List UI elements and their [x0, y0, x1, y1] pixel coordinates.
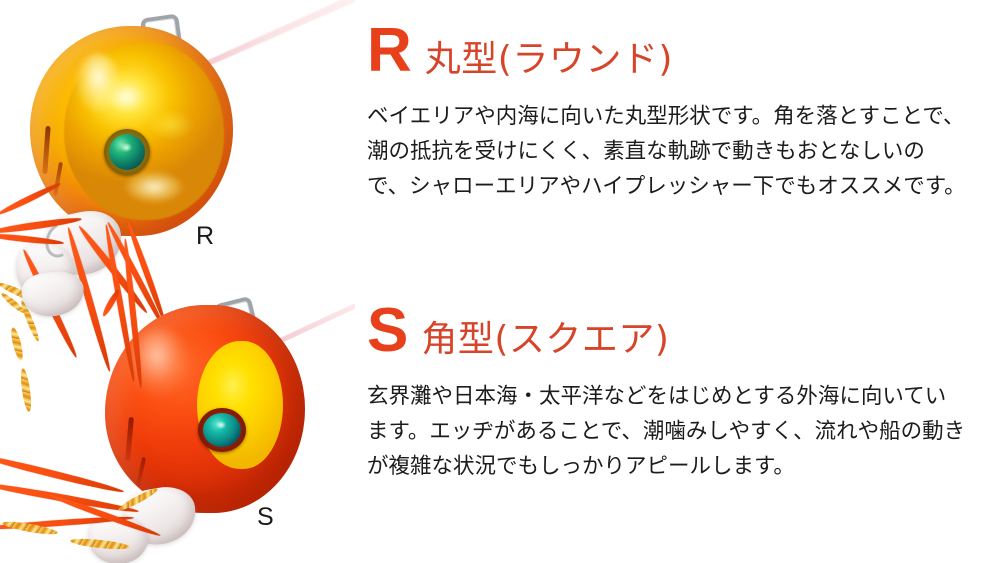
jighead-round-slot	[42, 126, 50, 174]
jighead-square-slot	[125, 417, 134, 461]
body-text-square: 玄界灘や日本海・太平洋などをはじめとする外海に向いています。エッヂがあることで、…	[367, 380, 967, 484]
foil-strand	[19, 368, 33, 413]
heading-label-round: 丸型(ラウンド)	[425, 42, 673, 78]
lure-eye-square	[198, 408, 246, 452]
leader-line-round	[195, 0, 355, 71]
product-photo-column: R S	[0, 0, 355, 563]
section-round: R 丸型(ラウンド) ベイエリアや内海に向いた丸型形状です。角を落とすことで、潮…	[367, 20, 987, 204]
photo-label-round: R	[196, 222, 215, 251]
heading-label-square: 角型(スクエア)	[421, 322, 669, 358]
lure-eye-square-highlight	[216, 421, 226, 429]
heading-square: S 角型(スクエア)	[367, 300, 987, 362]
description-column: R 丸型(ラウンド) ベイエリアや内海に向いた丸型形状です。角を落とすことで、潮…	[367, 0, 987, 563]
rubber-skirt-round-3	[20, 269, 86, 319]
lure-eye-round-lens	[109, 134, 145, 170]
section-square: S 角型(スクエア) 玄界灘や日本海・太平洋などをはじめとする外海に向いています…	[367, 300, 987, 484]
product-feature-panel: R S R 丸型(ラウンド) ベイエリアや内海に向いた丸型形状です。角を落とすこ…	[0, 0, 1000, 563]
photo-label-square: S	[257, 503, 274, 532]
jighead-square-face	[197, 341, 283, 469]
jighead-square-slot-2	[136, 457, 146, 487]
lure-eye-round-highlight	[121, 143, 132, 152]
heading-letter-round: R	[367, 20, 411, 82]
lure-eye-round	[104, 129, 150, 175]
jighead-round-highlight-lower	[126, 172, 182, 202]
heading-letter-square: S	[367, 300, 407, 362]
foil-strand	[9, 327, 25, 362]
body-text-round: ベイエリアや内海に向いた丸型形状です。角を落とすことで、潮の抵抗を受けにくく、素…	[367, 100, 967, 204]
lure-eye-square-lens	[203, 413, 241, 447]
heading-round: R 丸型(ラウンド)	[367, 20, 987, 82]
jighead-round-slot-2	[53, 162, 63, 196]
jighead-round-highlight	[76, 54, 120, 112]
